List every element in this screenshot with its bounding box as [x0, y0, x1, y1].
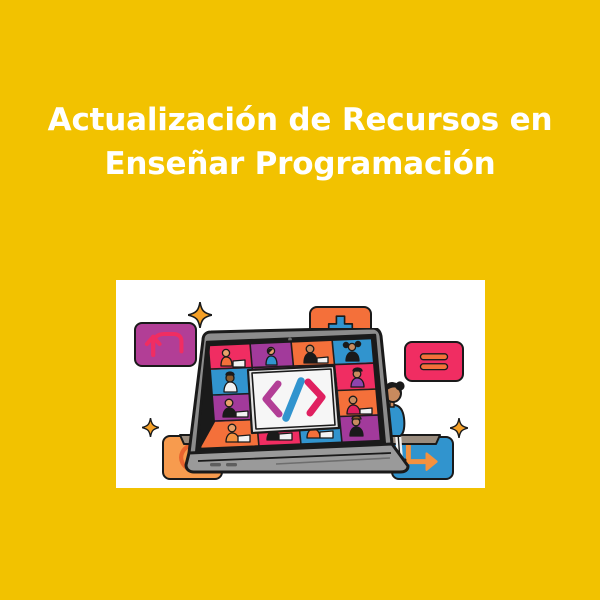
- page-title-line-1: Actualización de Recursos en: [30, 98, 570, 142]
- video-call-grid: [200, 338, 381, 449]
- page-title-line-2: Enseñar Programación: [30, 142, 570, 186]
- illustration-card: [116, 280, 485, 488]
- sparkle-bottom-right-icon: [450, 418, 468, 438]
- laptop-device: [176, 328, 416, 478]
- page-title: Actualización de Recursos en Enseñar Pro…: [0, 98, 600, 186]
- sparkle-mid-left-icon: [142, 418, 159, 437]
- poster-canvas: Actualización de Recursos en Enseñar Pro…: [0, 0, 600, 600]
- illustration-stage: [116, 280, 485, 488]
- code-symbol-panel: [248, 366, 339, 433]
